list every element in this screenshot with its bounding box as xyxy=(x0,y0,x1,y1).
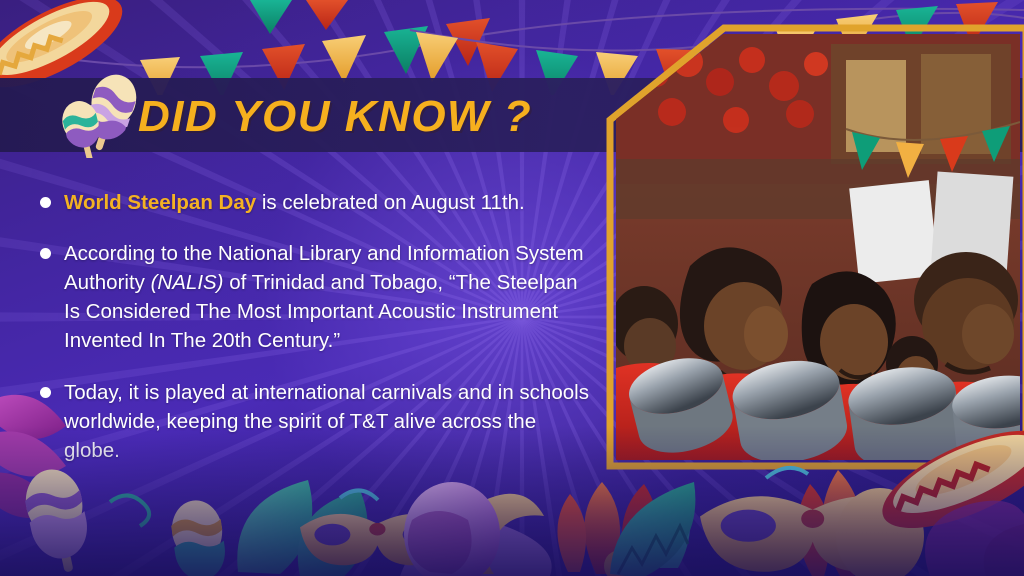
bullet-text: World Steelpan Day is celebrated on Augu… xyxy=(64,188,597,217)
bullet-world-steelpan-day: World Steelpan Day is celebrated on Augu… xyxy=(32,188,597,217)
page-title: DID YOU KNOW ? xyxy=(138,92,532,142)
carnival-decorations xyxy=(0,386,1024,576)
bullet-text-segment: is celebrated on August 11th. xyxy=(256,191,525,214)
bullet-dot-icon xyxy=(40,197,51,208)
acronym-term: (NALIS) xyxy=(151,271,224,294)
highlight-term: World Steelpan Day xyxy=(64,191,256,214)
bullet-nalis-quote: According to the National Library and In… xyxy=(32,239,597,355)
slide-canvas: DID YOU KNOW ? World Steelpan Day is cel… xyxy=(0,0,1024,576)
bullet-dot-icon xyxy=(40,248,51,259)
bullet-text: According to the National Library and In… xyxy=(64,239,597,355)
maracas-icon xyxy=(52,72,152,158)
